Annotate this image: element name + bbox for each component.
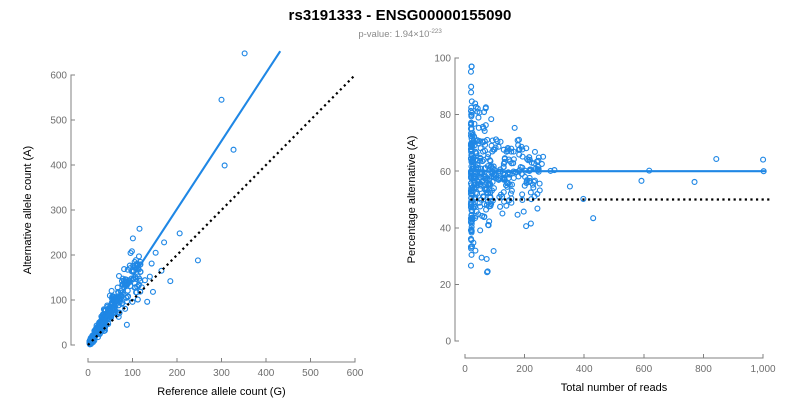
- x-tick-label: 200: [516, 364, 533, 375]
- x-tick-label: 1,000: [751, 364, 776, 375]
- data-point: [537, 181, 542, 186]
- x-tick-label: 400: [258, 368, 275, 379]
- data-point: [231, 147, 236, 152]
- y-tick-label: 200: [50, 251, 67, 262]
- data-point: [195, 258, 200, 263]
- data-point: [469, 69, 474, 74]
- x-axis-title: Total number of reads: [561, 382, 668, 394]
- x-axis-title: Reference allele count (G): [157, 386, 285, 398]
- y-axis-title: Alternative allele count (A): [22, 146, 34, 274]
- data-point: [498, 204, 503, 209]
- data-point: [130, 236, 135, 241]
- data-point: [145, 299, 150, 304]
- y-tick-label: 40: [440, 223, 452, 234]
- x-tick-label: 500: [302, 368, 319, 379]
- ase-figure: rs3191333 - ENSG00000155090 p-value: 1.9…: [0, 0, 800, 400]
- scatter-allele-counts: 01002003004005006000100200300400500600Re…: [0, 0, 400, 400]
- data-point: [533, 149, 538, 154]
- data-point: [521, 209, 526, 214]
- data-point: [469, 263, 474, 268]
- y-tick-label: 500: [50, 116, 67, 127]
- data-point: [714, 157, 719, 162]
- data-point: [469, 90, 474, 95]
- y-tick-label: 20: [440, 280, 452, 291]
- data-point: [168, 279, 173, 284]
- data-point: [528, 221, 533, 226]
- data-point: [143, 278, 148, 283]
- y-tick-label: 300: [50, 206, 67, 217]
- x-axis: 02004006008001,000: [462, 354, 776, 375]
- y-tick-label: 600: [50, 71, 67, 82]
- y-tick-label: 0: [61, 341, 67, 352]
- x-tick-label: 300: [213, 368, 230, 379]
- y-axis: 020406080100: [434, 54, 459, 348]
- data-point: [478, 228, 483, 233]
- data-point: [219, 97, 224, 102]
- data-point: [761, 157, 766, 162]
- data-point: [153, 250, 158, 255]
- data-points: [469, 64, 767, 275]
- data-point: [484, 257, 489, 262]
- y-tick-label: 400: [50, 161, 67, 172]
- panel-allele-counts: 01002003004005006000100200300400500600Re…: [0, 0, 400, 400]
- data-point: [512, 125, 517, 130]
- x-tick-label: 0: [85, 368, 91, 379]
- scatter-percentage-alternative: 02040608010002004006008001,000Total numb…: [400, 0, 800, 400]
- x-tick-label: 600: [636, 364, 653, 375]
- data-point: [639, 178, 644, 183]
- data-point: [147, 274, 152, 279]
- data-point: [511, 176, 516, 181]
- reference-line: [88, 75, 355, 345]
- y-tick-label: 100: [50, 296, 67, 307]
- data-point: [124, 322, 129, 327]
- data-point: [504, 203, 509, 208]
- data-point: [515, 212, 520, 217]
- data-point: [137, 226, 142, 231]
- data-points: [87, 51, 247, 347]
- x-axis: 0100200300400500600: [85, 358, 364, 379]
- y-axis-title: Percentage alternative (A): [406, 136, 418, 264]
- data-point: [491, 249, 496, 254]
- data-point: [469, 84, 474, 89]
- data-point: [222, 163, 227, 168]
- data-point: [535, 206, 540, 211]
- data-point: [162, 240, 167, 245]
- data-point: [479, 255, 484, 260]
- data-point: [117, 274, 122, 279]
- data-point: [476, 115, 481, 120]
- data-point: [489, 117, 494, 122]
- fit-line: [88, 51, 280, 345]
- data-point: [177, 231, 182, 236]
- data-point: [151, 289, 156, 294]
- data-point: [520, 192, 525, 197]
- data-point: [242, 51, 247, 56]
- y-tick-label: 60: [440, 167, 452, 178]
- x-tick-label: 400: [576, 364, 593, 375]
- y-tick-label: 100: [434, 54, 451, 65]
- y-axis: 0100200300400500600: [50, 71, 75, 352]
- data-point: [500, 211, 505, 216]
- y-tick-label: 0: [445, 337, 451, 348]
- data-point: [484, 207, 489, 212]
- x-tick-label: 800: [695, 364, 712, 375]
- x-tick-label: 600: [347, 368, 364, 379]
- x-tick-label: 0: [462, 364, 468, 375]
- data-point: [692, 180, 697, 185]
- data-point: [149, 261, 154, 266]
- panel-percentage-alternative: 02040608010002004006008001,000Total numb…: [400, 0, 800, 400]
- x-tick-label: 100: [124, 368, 141, 379]
- y-tick-label: 80: [440, 110, 452, 121]
- data-point: [524, 224, 529, 229]
- x-tick-label: 200: [169, 368, 186, 379]
- data-point: [567, 184, 572, 189]
- data-point: [469, 252, 474, 257]
- data-point: [591, 216, 596, 221]
